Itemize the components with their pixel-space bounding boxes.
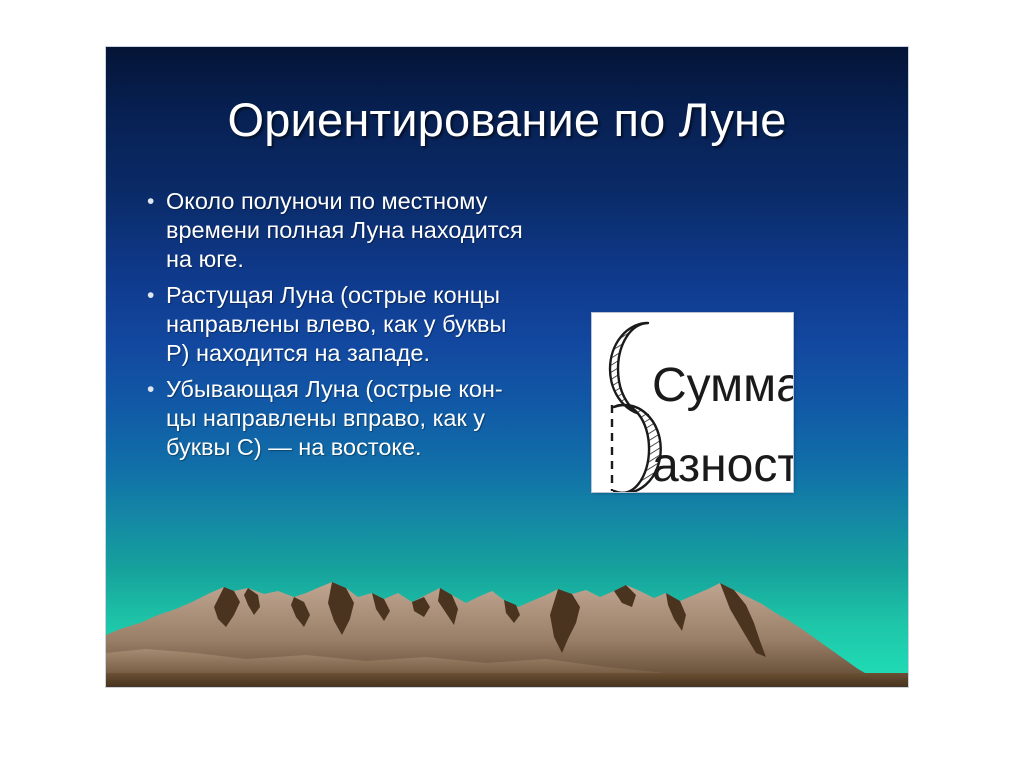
waning-crescent-icon (610, 323, 648, 415)
bullet-dot-icon: • (142, 281, 166, 311)
bullet-dot-icon: • (142, 375, 166, 405)
figure-caption-top: Сумма (652, 359, 793, 412)
mountain-landscape (106, 557, 908, 687)
list-item: • Убывающая Луна (острые кон-цы направле… (142, 375, 532, 462)
moon-mnemonic-figure: Сумма азность (592, 313, 793, 492)
presentation-slide: Ориентирование по Луне • Около полуночи … (106, 47, 908, 687)
bullet-list: • Около полуночи по местному времени пол… (142, 187, 532, 469)
bullet-dot-icon: • (142, 187, 166, 217)
figure-caption-bottom: азность (652, 439, 793, 492)
bullet-text: Около полуночи по местному времени полна… (166, 187, 532, 274)
mountain-base-strip (106, 673, 908, 687)
list-item: • Около полуночи по местному времени пол… (142, 187, 532, 274)
page-root: Ориентирование по Луне • Около полуночи … (0, 0, 1024, 767)
list-item: • Растущая Луна (острые концы направлены… (142, 281, 532, 368)
bullet-text: Растущая Луна (острые концы направлены в… (166, 281, 532, 368)
page-title: Ориентирование по Луне (106, 95, 908, 144)
bullet-text: Убывающая Луна (острые кон-цы направлены… (166, 375, 532, 462)
